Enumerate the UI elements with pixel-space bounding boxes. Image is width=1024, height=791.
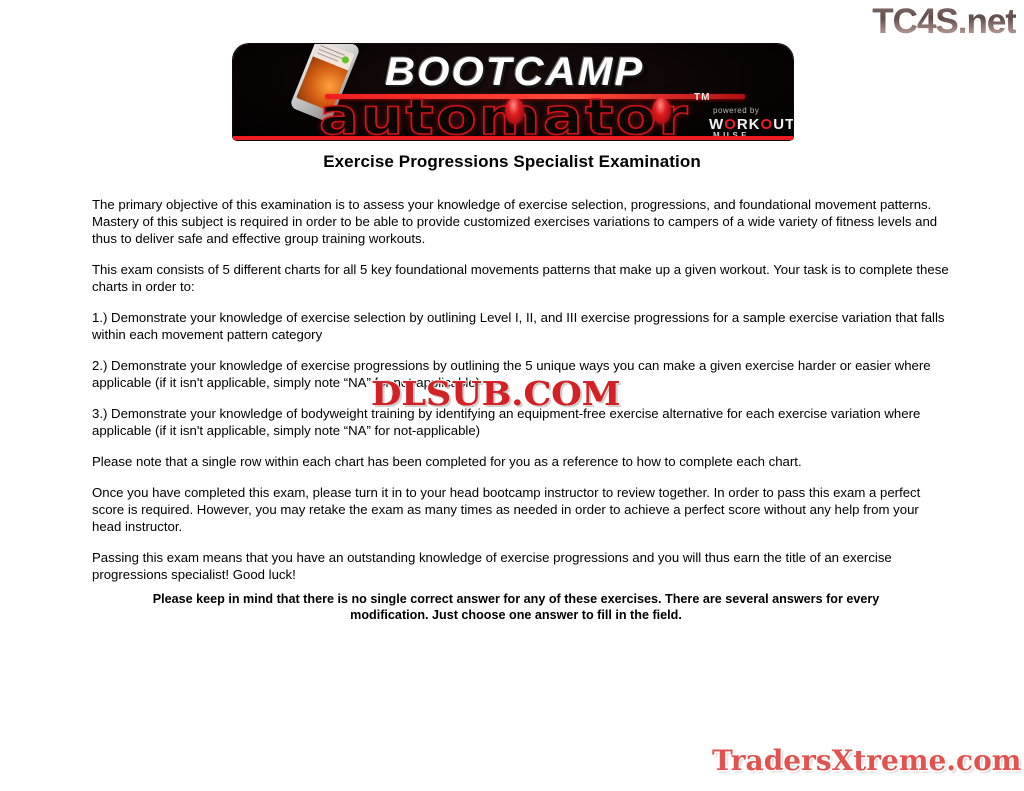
paragraph-exam-overview: This exam consists of 5 different charts… bbox=[92, 261, 950, 295]
logo-gem-icon bbox=[505, 98, 524, 124]
logo-bottom-red-bar bbox=[233, 136, 793, 140]
logo-gem-icon bbox=[652, 98, 671, 124]
page-title: Exercise Progressions Specialist Examina… bbox=[0, 152, 1024, 172]
tradersxtreme-watermark-outline: TradersXtreme.com bbox=[712, 744, 1021, 777]
closing-note: Please keep in mind that there is no sin… bbox=[112, 591, 920, 623]
paragraph-reference-row: Please note that a single row within eac… bbox=[92, 453, 950, 470]
paragraph-objective: The primary objective of this examinatio… bbox=[92, 196, 950, 247]
dlsub-watermark-outline: DLSUB.COM bbox=[371, 374, 620, 413]
bootcamp-automator-logo: BOOTCAMP automator TM powered by WORKOUT… bbox=[233, 44, 793, 140]
tc4s-watermark: TC4S.net bbox=[872, 2, 1016, 42]
screen-line bbox=[317, 52, 338, 61]
workout-letter-o2: O bbox=[761, 116, 774, 133]
paragraph-task-1: 1.) Demonstrate your knowledge of exerci… bbox=[92, 309, 950, 343]
workout-letters-ut: UT bbox=[773, 116, 793, 133]
logo-trademark-symbol: TM bbox=[694, 92, 710, 103]
logo-powered-by-label: powered by bbox=[713, 106, 759, 115]
screen-dot-icon bbox=[341, 55, 350, 64]
paragraph-conclusion: Passing this exam means that you have an… bbox=[92, 549, 950, 583]
paragraph-submission: Once you have completed this exam, pleas… bbox=[92, 484, 950, 535]
